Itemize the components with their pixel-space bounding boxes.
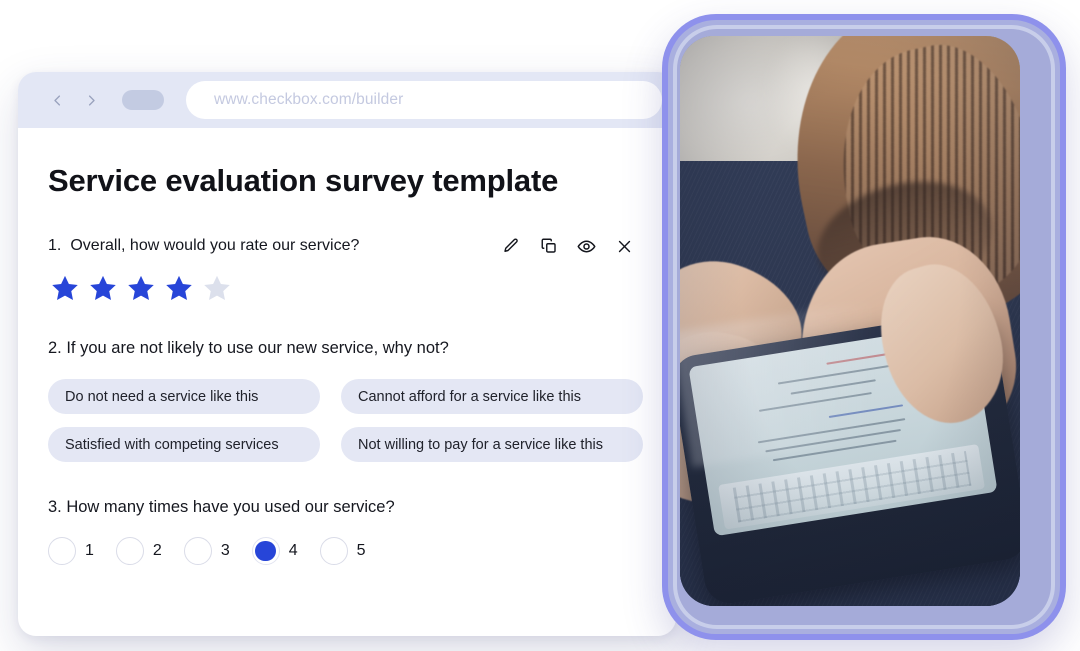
- star-icon-5[interactable]: [202, 273, 232, 303]
- delete-icon[interactable]: [615, 237, 634, 256]
- hands-holding-smartphone-photo: [680, 36, 1020, 606]
- star-icon-1[interactable]: [50, 273, 80, 303]
- preview-icon[interactable]: [577, 237, 596, 256]
- question-1-toolbar: [501, 237, 646, 256]
- radio-icon: [116, 537, 144, 565]
- url-text: www.checkbox.com/builder: [214, 91, 403, 109]
- address-bar[interactable]: www.checkbox.com/builder: [186, 81, 662, 119]
- question-3: 3. How many times have you used our serv…: [48, 498, 646, 565]
- star-icon-4[interactable]: [164, 273, 194, 303]
- radio-icon: [320, 537, 348, 565]
- option-chip[interactable]: Cannot afford for a service like this: [341, 379, 643, 414]
- back-button[interactable]: [44, 87, 70, 113]
- browser-mock-card: www.checkbox.com/builder Service evaluat…: [18, 72, 676, 636]
- question-1-text: Overall, how would you rate our service?: [70, 237, 359, 255]
- survey-body: Service evaluation survey template 1. Ov…: [18, 128, 676, 565]
- question-1-number: 1.: [48, 237, 61, 255]
- radio-label: 4: [289, 542, 298, 560]
- radio-icon-checked: [252, 537, 280, 565]
- question-1: 1. Overall, how would you rate our servi…: [48, 235, 646, 303]
- screenshot-stage: www.checkbox.com/builder Service evaluat…: [0, 0, 1080, 651]
- radio-icon: [48, 537, 76, 565]
- radio-icon: [184, 537, 212, 565]
- star-icon-2[interactable]: [88, 273, 118, 303]
- radio-option[interactable]: 3: [184, 537, 230, 565]
- question-2: 2. If you are not likely to use our new …: [48, 339, 646, 462]
- option-chip[interactable]: Do not need a service like this: [48, 379, 320, 414]
- question-2-options: Do not need a service like this Cannot a…: [48, 379, 646, 462]
- photo-card-frame: [662, 14, 1066, 640]
- radio-option-selected[interactable]: 4: [252, 537, 298, 565]
- option-chip[interactable]: Not willing to pay for a service like th…: [341, 427, 643, 462]
- chevron-right-icon: [84, 93, 99, 108]
- question-2-text: 2. If you are not likely to use our new …: [48, 339, 646, 358]
- question-3-text: 3. How many times have you used our serv…: [48, 498, 646, 517]
- forward-button[interactable]: [78, 87, 104, 113]
- radio-option[interactable]: 1: [48, 537, 94, 565]
- question-1-header: 1. Overall, how would you rate our servi…: [48, 235, 646, 257]
- radio-label: 2: [153, 542, 162, 560]
- radio-label: 3: [221, 542, 230, 560]
- question-3-options: 1 2 3 4 5: [48, 537, 646, 565]
- page-title: Service evaluation survey template: [48, 163, 646, 199]
- chrome-toolbar-pill[interactable]: [122, 90, 164, 110]
- duplicate-icon[interactable]: [539, 237, 558, 256]
- option-chip[interactable]: Satisfied with competing services: [48, 427, 320, 462]
- chevron-left-icon: [50, 93, 65, 108]
- radio-label: 1: [85, 542, 94, 560]
- radio-option[interactable]: 2: [116, 537, 162, 565]
- browser-chrome-bar: www.checkbox.com/builder: [18, 72, 676, 128]
- radio-label: 5: [357, 542, 366, 560]
- edit-icon[interactable]: [501, 237, 520, 256]
- radio-option[interactable]: 5: [320, 537, 366, 565]
- photo-color-tint: [680, 36, 1020, 606]
- star-icon-3[interactable]: [126, 273, 156, 303]
- star-rating[interactable]: [48, 273, 646, 303]
